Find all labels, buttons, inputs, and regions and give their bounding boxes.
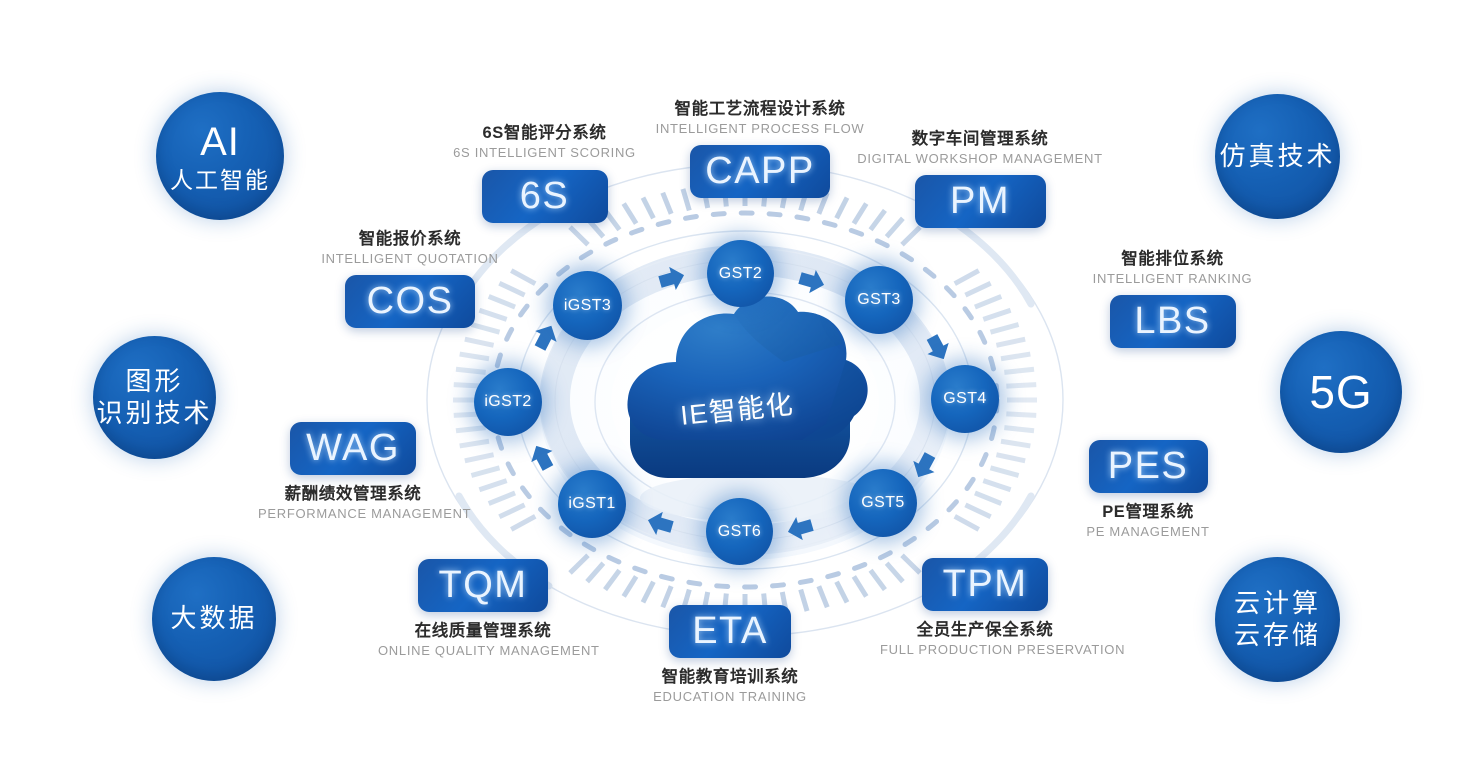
node-label: GST3: [857, 291, 900, 309]
module-lbs[interactable]: 智能排位系统 INTELLIGENT RANKING LBS: [1055, 248, 1290, 348]
node-label: GST4: [943, 390, 986, 408]
arrow-top-left-icon: [657, 264, 688, 294]
node-label: iGST1: [568, 495, 615, 513]
node-igst1[interactable]: iGST1: [558, 470, 626, 538]
tech-bubble-line: 人工智能: [170, 166, 270, 194]
module-pm[interactable]: 数字车间管理系统 DIGITAL WORKSHOP MANAGEMENT PM: [855, 128, 1105, 228]
module-chip-lbs[interactable]: LBS: [1110, 295, 1236, 348]
module-caption-cn: 智能排位系统: [1055, 248, 1290, 270]
tech-bubble-ai[interactable]: AI 人工智能: [156, 92, 284, 220]
module-caption-cn: 薪酬绩效管理系统: [258, 483, 448, 505]
node-label: iGST3: [564, 297, 611, 315]
arrow-right-upper-icon: [921, 331, 954, 364]
tech-bubble-line: 仿真技术: [1220, 141, 1336, 173]
module-caption-cn: 智能教育培训系统: [630, 666, 830, 688]
module-chip-cos[interactable]: COS: [345, 275, 475, 328]
module-chip-capp[interactable]: CAPP: [690, 145, 830, 198]
tech-bubble-simulation[interactable]: 仿真技术: [1215, 94, 1340, 219]
module-wag[interactable]: WAG 薪酬绩效管理系统 PERFORMANCE MANAGEMENT: [258, 422, 448, 524]
module-caption-en: DIGITAL WORKSHOP MANAGEMENT: [855, 150, 1105, 169]
node-gst4[interactable]: GST4: [931, 365, 999, 433]
module-caption: 智能教育培训系统 EDUCATION TRAINING: [630, 666, 830, 707]
module-code: 6S: [520, 175, 569, 218]
tech-bubble-bigdata[interactable]: 大数据: [152, 557, 276, 681]
module-caption-en: ONLINE QUALITY MANAGEMENT: [378, 642, 588, 661]
module-capp[interactable]: 智能工艺流程设计系统 INTELLIGENT PROCESS FLOW CAPP: [640, 98, 880, 198]
module-caption-en: INTELLIGENT QUOTATION: [290, 250, 530, 269]
module-caption-cn: PE管理系统: [1048, 501, 1248, 523]
node-gst3[interactable]: GST3: [845, 266, 913, 334]
module-caption-cn: 智能工艺流程设计系统: [640, 98, 880, 120]
module-code: CAPP: [705, 150, 814, 193]
tech-bubble-line: 图形: [97, 366, 213, 398]
node-igst3[interactable]: iGST3: [553, 271, 622, 340]
module-chip-tqm[interactable]: TQM: [418, 559, 548, 612]
tech-bubble-line: 云计算: [1234, 588, 1321, 620]
node-igst2[interactable]: iGST2: [474, 368, 542, 436]
module-caption-en: FULL PRODUCTION PRESERVATION: [880, 641, 1090, 660]
node-label: iGST2: [484, 393, 531, 411]
module-chip-pm[interactable]: PM: [915, 175, 1046, 228]
node-gst2[interactable]: GST2: [707, 240, 774, 307]
tech-bubble-cloud[interactable]: 云计算 云存储: [1215, 557, 1340, 682]
tech-bubble-5g[interactable]: 5G: [1280, 331, 1402, 453]
module-caption-en: PERFORMANCE MANAGEMENT: [258, 505, 448, 524]
module-caption: 薪酬绩效管理系统 PERFORMANCE MANAGEMENT: [258, 483, 448, 524]
module-caption-cn: 6S智能评分系统: [452, 122, 637, 144]
module-code: WAG: [306, 427, 400, 470]
module-chip-wag[interactable]: WAG: [290, 422, 416, 475]
tech-bubble-line: AI: [170, 118, 270, 167]
tech-bubble-line: 云存储: [1234, 620, 1321, 652]
module-caption-en: INTELLIGENT RANKING: [1055, 270, 1290, 289]
module-chip-6s[interactable]: 6S: [482, 170, 608, 223]
module-caption-en: EDUCATION TRAINING: [630, 688, 830, 707]
tech-bubble-graphics[interactable]: 图形 识别技术: [93, 336, 216, 459]
module-chip-tpm[interactable]: TPM: [922, 558, 1048, 611]
module-caption-en: PE MANAGEMENT: [1048, 523, 1248, 542]
module-caption-cn: 数字车间管理系统: [855, 128, 1105, 150]
module-caption: 6S智能评分系统 6S INTELLIGENT SCORING: [452, 122, 637, 163]
tech-bubble-line: 大数据: [170, 603, 257, 635]
module-code: PES: [1108, 445, 1189, 488]
node-label: GST5: [861, 494, 904, 512]
module-pes[interactable]: PES PE管理系统 PE MANAGEMENT: [1048, 440, 1248, 542]
arrow-bottom-right-icon: [785, 513, 816, 543]
tech-bubble-line: 5G: [1309, 364, 1372, 420]
module-code: PM: [950, 180, 1010, 223]
node-gst5[interactable]: GST5: [849, 469, 917, 537]
module-code: ETA: [692, 610, 768, 653]
module-cos[interactable]: 智能报价系统 INTELLIGENT QUOTATION COS: [290, 228, 530, 328]
diagram-canvas: IE智能化: [0, 0, 1463, 759]
arrow-top-right-icon: [797, 266, 828, 296]
module-caption-cn: 智能报价系统: [290, 228, 530, 250]
module-6s[interactable]: 6S智能评分系统 6S INTELLIGENT SCORING 6S: [452, 122, 637, 223]
module-code: COS: [367, 280, 454, 323]
module-caption: 在线质量管理系统 ONLINE QUALITY MANAGEMENT: [378, 620, 588, 661]
arrow-left-upper-icon: [529, 320, 562, 353]
module-caption-cn: 在线质量管理系统: [378, 620, 588, 642]
module-code: LBS: [1134, 300, 1210, 343]
module-caption: 智能报价系统 INTELLIGENT QUOTATION: [290, 228, 530, 269]
module-caption: 全员生产保全系统 FULL PRODUCTION PRESERVATION: [880, 619, 1090, 660]
module-caption-en: INTELLIGENT PROCESS FLOW: [640, 120, 880, 139]
module-caption-en: 6S INTELLIGENT SCORING: [452, 144, 637, 163]
module-caption: 智能排位系统 INTELLIGENT RANKING: [1055, 248, 1290, 289]
module-code: TQM: [439, 564, 528, 607]
arrow-left-lower-icon: [526, 440, 559, 473]
module-caption: PE管理系统 PE MANAGEMENT: [1048, 501, 1248, 542]
module-chip-pes[interactable]: PES: [1089, 440, 1208, 493]
module-code: TPM: [943, 563, 1028, 606]
module-chip-eta[interactable]: ETA: [669, 605, 791, 658]
node-label: GST2: [719, 265, 762, 283]
module-tqm[interactable]: TQM 在线质量管理系统 ONLINE QUALITY MANAGEMENT: [378, 559, 588, 661]
node-gst6[interactable]: GST6: [706, 498, 773, 565]
module-caption: 数字车间管理系统 DIGITAL WORKSHOP MANAGEMENT: [855, 128, 1105, 169]
module-tpm[interactable]: TPM 全员生产保全系统 FULL PRODUCTION PRESERVATIO…: [880, 558, 1090, 660]
node-label: GST6: [718, 523, 761, 541]
module-caption: 智能工艺流程设计系统 INTELLIGENT PROCESS FLOW: [640, 98, 880, 139]
module-eta[interactable]: ETA 智能教育培训系统 EDUCATION TRAINING: [630, 605, 830, 707]
module-caption-cn: 全员生产保全系统: [880, 619, 1090, 641]
arrow-right-lower-icon: [908, 449, 941, 482]
tech-bubble-line: 识别技术: [97, 398, 213, 430]
arrow-bottom-left-icon: [645, 509, 676, 539]
